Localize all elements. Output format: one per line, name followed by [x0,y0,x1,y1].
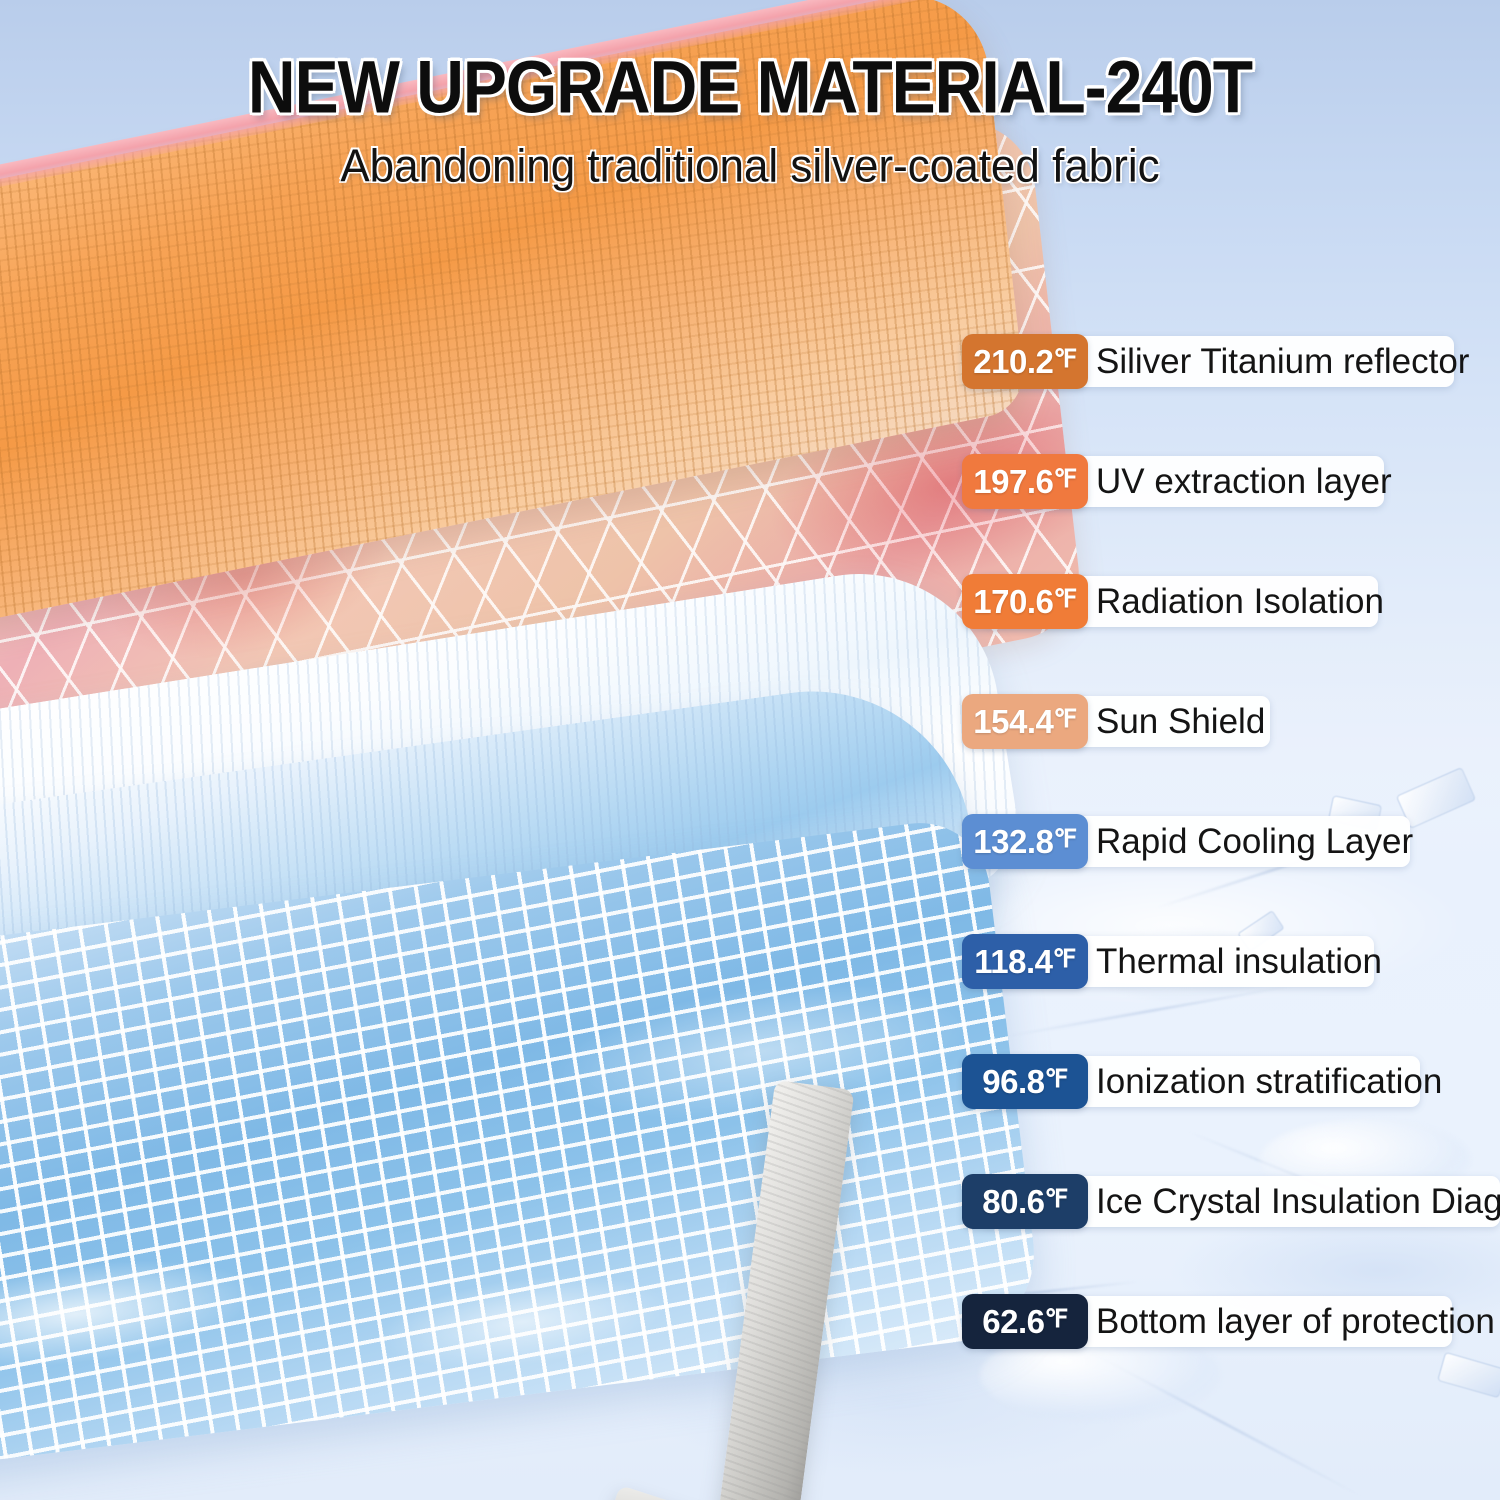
temperature-badge: 118.4℉ [962,934,1088,989]
temperature-badge: 96.8℉ [962,1054,1088,1109]
temperature-value: 62.6 [982,1303,1044,1341]
temperature-value: 132.8 [973,823,1053,861]
legend-row: 80.6℉Ice Crystal Insulation Diagram [962,1174,1500,1229]
temperature-value: 80.6 [982,1183,1044,1221]
temperature-badge: 62.6℉ [962,1294,1088,1349]
temperature-badge: 80.6℉ [962,1174,1088,1229]
legend-row: 62.6℉Bottom layer of protection [962,1294,1500,1349]
layer-name-label: UV extraction layer [1088,454,1408,509]
title-block: NEW UPGRADE MATERIAL-240T Abandoning tra… [0,44,1500,190]
temperature-unit: ℉ [1053,584,1076,614]
layer-name-label: Siliver Titanium reflector [1088,334,1485,389]
layer-name-label: Radiation Isolation [1088,574,1400,629]
layer-legend-list: 210.2℉Siliver Titanium reflector197.6℉UV… [962,334,1500,1349]
temperature-badge: 132.8℉ [962,814,1088,869]
layer-name-label: Ice Crystal Insulation Diagram [1088,1174,1500,1229]
legend-row: 197.6℉UV extraction layer [962,454,1408,509]
temperature-unit: ℉ [1052,944,1075,974]
layer-name-label: Rapid Cooling Layer [1088,814,1429,869]
temperature-unit: ℉ [1053,824,1076,854]
temperature-unit: ℉ [1044,1304,1067,1334]
fabric-layer-illustration [0,195,1040,1500]
temperature-value: 170.6 [973,583,1053,621]
product-infographic: NEW UPGRADE MATERIAL-240T Abandoning tra… [0,0,1500,1500]
legend-row: 154.4℉Sun Shield [962,694,1281,749]
page-subtitle: Abandoning traditional silver-coated fab… [0,140,1500,193]
temperature-unit: ℉ [1044,1184,1067,1214]
temperature-value: 197.6 [973,463,1053,501]
temperature-value: 96.8 [982,1063,1044,1101]
legend-row: 96.8℉Ionization stratification [962,1054,1458,1109]
layer-name-label: Bottom layer of protection [1088,1294,1500,1349]
temperature-badge: 170.6℉ [962,574,1088,629]
legend-row: 210.2℉Siliver Titanium reflector [962,334,1485,389]
temperature-unit: ℉ [1053,464,1076,494]
layer-name-label: Sun Shield [1088,694,1281,749]
temperature-value: 210.2 [973,343,1053,381]
temperature-badge: 154.4℉ [962,694,1088,749]
temperature-unit: ℉ [1053,704,1076,734]
legend-row: 170.6℉Radiation Isolation [962,574,1400,629]
temperature-badge: 210.2℉ [962,334,1088,389]
page-title: NEW UPGRADE MATERIAL-240T [0,44,1500,129]
temperature-unit: ℉ [1044,1064,1067,1094]
layer-name-label: Thermal insulation [1088,934,1398,989]
temperature-unit: ℉ [1053,344,1076,374]
temperature-badge: 197.6℉ [962,454,1088,509]
temperature-value: 118.4 [974,943,1052,981]
temperature-value: 154.4 [973,703,1053,741]
legend-row: 118.4℉Thermal insulation [962,934,1398,989]
layer-name-label: Ionization stratification [1088,1054,1458,1109]
legend-row: 132.8℉Rapid Cooling Layer [962,814,1429,869]
